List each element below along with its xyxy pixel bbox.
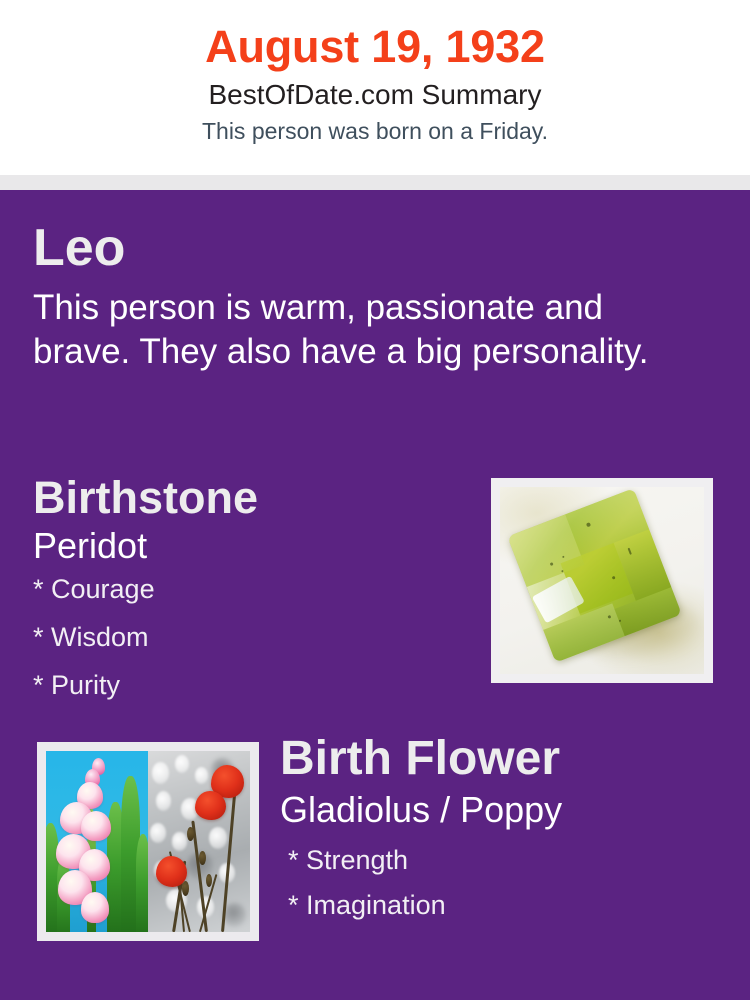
zodiac-section: Leo This person is warm, passionate and … [33, 222, 703, 374]
birthstone-name: Peridot [33, 526, 463, 566]
bokeh-light [209, 827, 226, 849]
birth-flower-trait: * Strength [280, 847, 730, 874]
leaf-shape [136, 834, 148, 932]
poppy-bud [187, 827, 194, 841]
page-title-date: August 19, 1932 [0, 22, 750, 72]
site-summary-label: BestOfDate.com Summary [0, 77, 750, 113]
gladiolus-and-poppy-image [46, 751, 250, 932]
poppy-bloom [195, 791, 226, 820]
birthstone-trait: * Purity [33, 672, 463, 699]
gladiolus-photo-half [46, 751, 148, 932]
birth-flower-image-frame [37, 742, 259, 941]
gem-inclusion [562, 555, 565, 558]
birthstone-trait-label: * Courage [33, 574, 155, 604]
gem-inclusion [560, 570, 563, 573]
birthstone-trait-label: * Wisdom [33, 622, 149, 652]
gem-inclusion [586, 522, 591, 527]
birthstone-section: Birthstone Peridot * Courage * Wisdom * … [33, 475, 463, 720]
bokeh-light [156, 791, 171, 811]
poppy-bud [182, 881, 189, 895]
birth-flower-name: Gladiolus / Poppy [280, 790, 730, 830]
bokeh-light [152, 762, 169, 784]
birthstone-title: Birthstone [33, 475, 463, 520]
birth-flower-section: Birth Flower Gladiolus / Poppy * Strengt… [280, 735, 730, 937]
gladiolus-bloom [81, 892, 110, 923]
born-day-note: This person was born on a Friday. [0, 117, 750, 147]
bokeh-light [175, 755, 189, 773]
birthstone-trait: * Wisdom [33, 624, 463, 651]
birth-flower-trait: * Imagination [280, 892, 730, 919]
birth-flower-title: Birth Flower [280, 735, 730, 783]
birthstone-trait: * Courage [33, 576, 463, 603]
zodiac-description: This person is warm, passionate and brav… [33, 286, 678, 374]
birth-flower-trait-label: * Imagination [288, 890, 446, 920]
header-divider [0, 175, 750, 190]
gladiolus-bloom [81, 811, 112, 842]
poppy-photo-half [148, 751, 250, 932]
bokeh-light [150, 823, 166, 843]
birthstone-image-frame [491, 478, 713, 683]
bokeh-light [195, 767, 208, 783]
bokeh-light [172, 832, 186, 850]
header: August 19, 1932 BestOfDate.com Summary T… [0, 0, 750, 175]
zodiac-sign-title: Leo [33, 222, 703, 274]
bokeh-dark [223, 903, 245, 927]
birthstone-trait-label: * Purity [33, 670, 120, 700]
peridot-gemstone-image [500, 487, 704, 674]
summary-card: August 19, 1932 BestOfDate.com Summary T… [0, 0, 750, 1000]
birth-flower-trait-label: * Strength [288, 845, 408, 875]
